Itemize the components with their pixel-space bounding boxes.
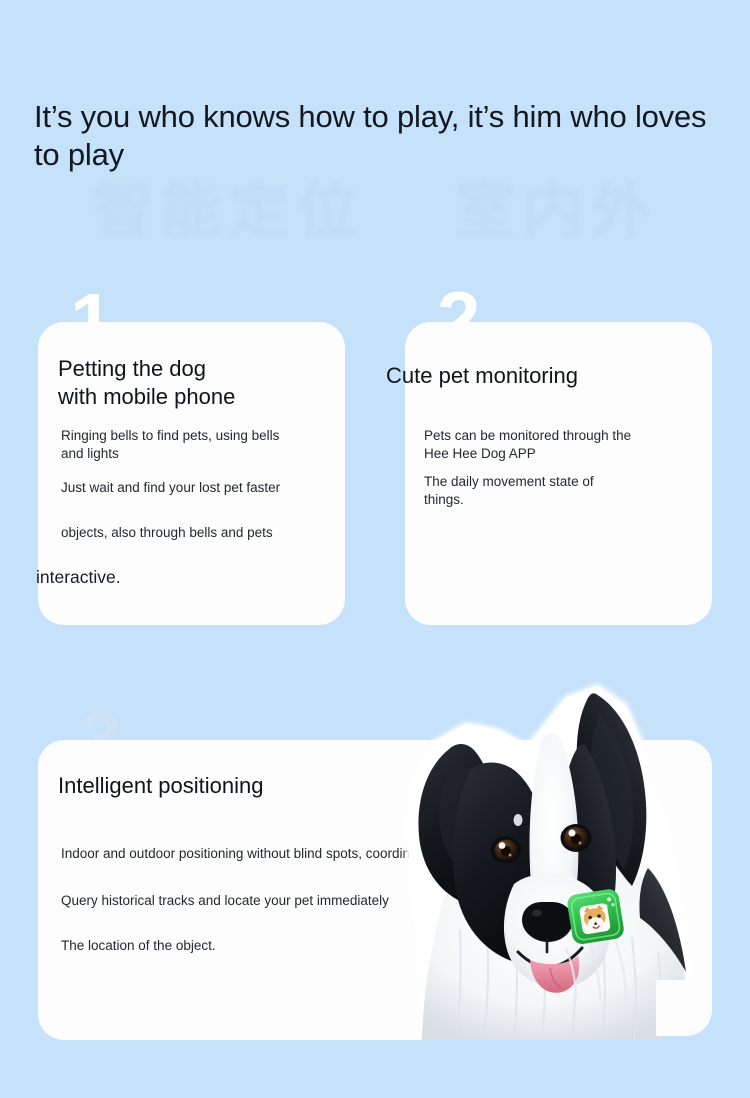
feature-card-1-line-2: Just wait and find your lost pet faster bbox=[61, 479, 356, 497]
feature-card-2-title: Cute pet monitoring bbox=[386, 362, 716, 390]
feature-card-3-title: Intelligent positioning bbox=[58, 772, 478, 800]
feature-card-1-line-1: Ringing bells to find pets, using bells … bbox=[61, 427, 356, 462]
feature-card-1-line-4: interactive. bbox=[36, 566, 121, 589]
photo-corner-mask bbox=[662, 986, 718, 1042]
feature-card-3-line-2: Query historical tracks and locate your … bbox=[61, 892, 491, 910]
feature-card-2-line-2: The daily movement state of things. bbox=[424, 473, 714, 508]
page-title: It’s you who knows how to play, it’s him… bbox=[34, 98, 724, 175]
feature-card-1-title: Petting the dog with mobile phone bbox=[58, 355, 338, 411]
feature-card-2-line-1: Pets can be monitored through the Hee He… bbox=[424, 427, 714, 462]
feature-card-3-line-1: Indoor and outdoor positioning without b… bbox=[61, 845, 531, 863]
feature-card-3-line-3: The location of the object. bbox=[61, 937, 461, 955]
photo-bottom-mask bbox=[390, 1040, 720, 1098]
feature-card-1-line-3: objects, also through bells and pets bbox=[61, 524, 356, 542]
